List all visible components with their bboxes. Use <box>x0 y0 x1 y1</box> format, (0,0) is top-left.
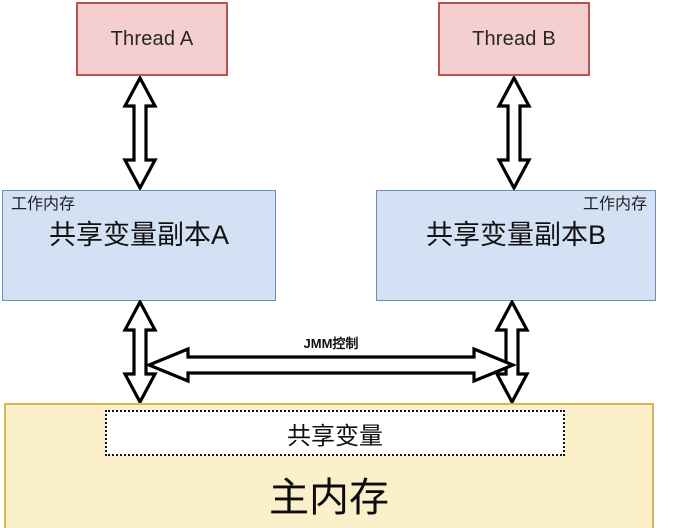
working-memory-b-caption: 工作内存 <box>385 195 647 215</box>
thread-a-box[interactable]: Thread A <box>76 2 228 76</box>
working-memory-a-variable: 共享变量副本A <box>11 220 267 251</box>
working-memory-a-box[interactable]: 工作内存 共享变量副本A <box>2 190 276 301</box>
working-memory-b-variable: 共享变量副本B <box>385 220 647 251</box>
arrow-thread-a-to-working-memory-a <box>121 76 159 190</box>
working-memory-a-caption: 工作内存 <box>11 195 267 215</box>
arrow-working-memory-a-to-main-memory <box>121 300 159 404</box>
jmm-control-label: JMM控制 <box>271 333 391 352</box>
arrow-working-memory-b-to-main-memory <box>493 300 531 404</box>
arrow-thread-b-to-working-memory-b <box>495 76 533 190</box>
shared-variable-label: 共享变量 <box>287 416 383 451</box>
jmm-diagram-canvas: Thread A Thread B 工作内存 共享变量副本A 工作内存 共享变量… <box>0 0 678 528</box>
thread-b-label: Thread B <box>472 28 556 51</box>
thread-b-box[interactable]: Thread B <box>438 2 590 76</box>
main-memory-box[interactable]: 共享变量 主内存 <box>4 403 654 528</box>
shared-variable-box[interactable]: 共享变量 <box>105 410 565 456</box>
thread-a-label: Thread A <box>111 28 194 51</box>
working-memory-b-box[interactable]: 工作内存 共享变量副本B <box>376 190 656 301</box>
main-memory-label: 主内存 <box>6 465 652 523</box>
